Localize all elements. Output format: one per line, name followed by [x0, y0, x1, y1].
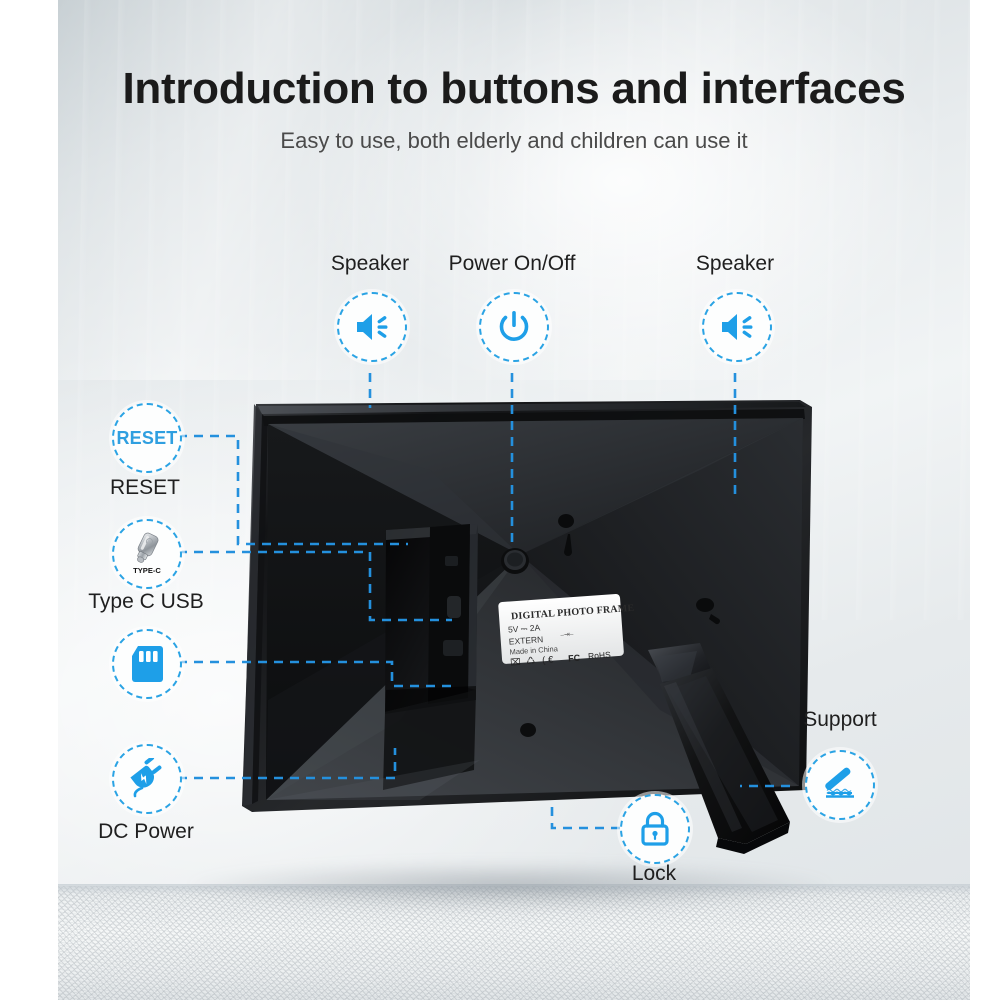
power-icon	[495, 308, 533, 346]
usb-drive-icon: TYPE-C	[124, 532, 170, 576]
speaker-icon-badge[interactable]	[337, 292, 407, 362]
sd-card-icon-badge[interactable]	[112, 629, 182, 699]
speaker-icon	[719, 311, 755, 343]
reset-icon-badge[interactable]: RESET	[112, 403, 182, 473]
kickstand-icon	[819, 767, 861, 803]
left-page-margin	[0, 0, 58, 1000]
sd-card-icon	[130, 644, 164, 684]
page-title: Introduction to buttons and interfaces	[58, 64, 970, 114]
callout-label-lock: Lock	[606, 862, 702, 886]
table-surface	[58, 886, 970, 1000]
callout-label-dcpower: DC Power	[74, 820, 218, 844]
power-plug-icon	[125, 758, 169, 800]
page-subtitle: Easy to use, both elderly and children c…	[58, 128, 970, 154]
callout-label-reset: RESET	[92, 476, 198, 500]
speaker-icon-badge-right[interactable]	[702, 292, 772, 362]
padlock-icon-badge[interactable]	[620, 794, 690, 864]
callout-label-support: Support	[780, 708, 900, 732]
kickstand-icon-badge[interactable]	[805, 750, 875, 820]
usb-type-label: TYPE-C	[133, 566, 161, 575]
infographic-canvas: DIGITAL PHOTO FRAME 5V ⎓ 2A EXTERN ⎯⇥⎯ M…	[0, 0, 1000, 1000]
callout-label-power: Power On/Off	[440, 252, 584, 276]
callout-label-typec: Type C USB	[68, 590, 224, 614]
power-icon-badge[interactable]	[479, 292, 549, 362]
callout-label-speaker-right: Speaker	[682, 252, 788, 276]
power-plug-icon-badge[interactable]	[112, 744, 182, 814]
callout-label-speaker-left: Speaker	[317, 252, 423, 276]
padlock-icon	[638, 810, 672, 848]
right-page-margin	[970, 0, 1000, 1000]
speaker-icon	[354, 311, 390, 343]
reset-text-icon: RESET	[116, 428, 177, 449]
usb-drive-icon-badge[interactable]: TYPE-C	[112, 519, 182, 589]
